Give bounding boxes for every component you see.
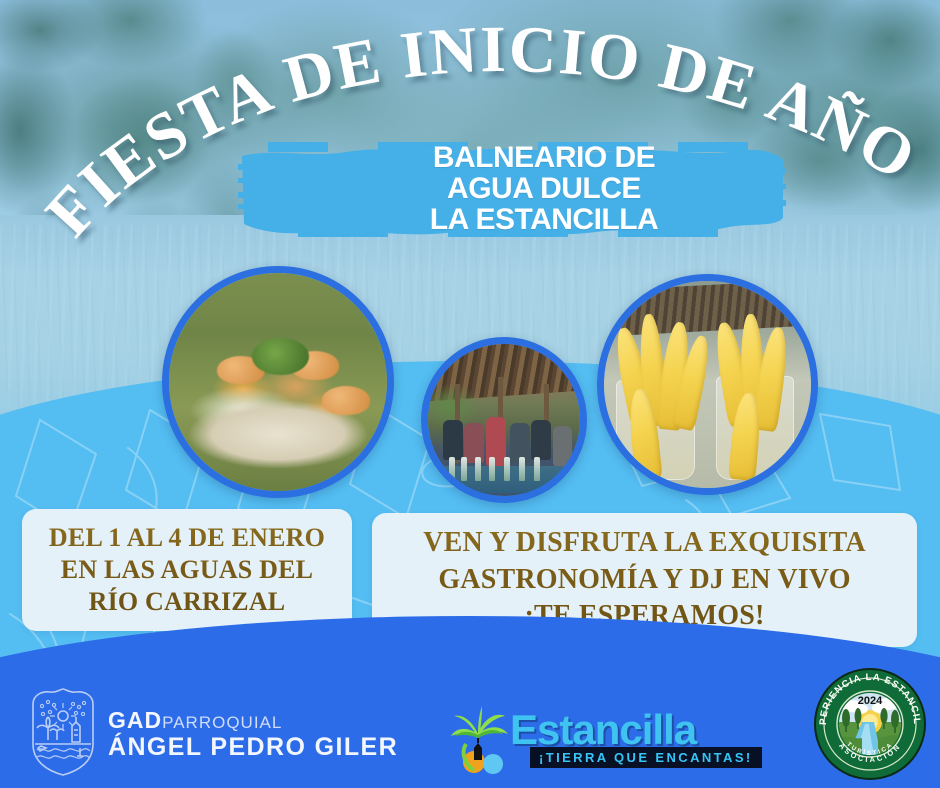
dates-line-3: RÍO CARRIZAL [89,587,286,616]
gad-parish-name: ÁNGEL PEDRO GILER [108,735,398,760]
dates-line-2: EN LAS AGUAS DEL [61,555,313,584]
gad-wordmark: GADPARROQUIAL ÁNGEL PEDRO GILER [108,709,398,760]
estancilla-logo: Estancilla ¡TIERRA QUE ENCANTAS! [448,700,712,780]
photo-circle-people: Personas en comedor bajo cabaña de caña [421,337,587,503]
photo-circle-mango: Vasos de mango en rodajas [597,274,818,495]
footer-content: GADPARROQUIAL ÁNGEL PEDRO GILER [0,660,940,788]
photo-circle-food: Plato de arroz con camarón en salsa sobr… [162,266,394,498]
dates-panel: DEL 1 AL 4 DE ENERO EN LAS AGUAS DEL RÍO… [22,509,352,631]
promo-line-2: GASTRONOMÍA Y DJ EN VIVO [438,564,850,595]
subtitle-banner: BALNEARIO DE AGUA DULCE LA ESTANCILLA [238,142,786,237]
gad-label-light: PARROQUIAL [162,713,282,732]
gad-label-strong: GAD [108,707,162,733]
banner-line-3: LA ESTANCILLA [430,205,658,236]
palm-tree-icon [448,704,514,778]
banner-line-1: BALNEARIO DE [433,143,655,174]
gad-crest-icon [28,686,98,778]
dates-line-1: DEL 1 AL 4 DE ENERO [49,523,325,552]
promo-line-1: VEN Y DISFRUTA LA EXQUISITA [423,527,866,558]
badge-year: 2024 [858,695,883,707]
event-poster: FIESTA DE INICIO DE AÑO 2026 BALNEARIO D… [0,0,940,788]
banner-line-2: AGUA DULCE [447,174,641,205]
estancilla-tagline: ¡TIERRA QUE ENCANTAS! [530,747,762,768]
banner-text-block: BALNEARIO DE AGUA DULCE LA ESTANCILLA [238,142,786,237]
experiencia-badge: EXPERIENCIA LA ESTANCILLA ASOCIACIÓN TUR… [812,666,928,782]
